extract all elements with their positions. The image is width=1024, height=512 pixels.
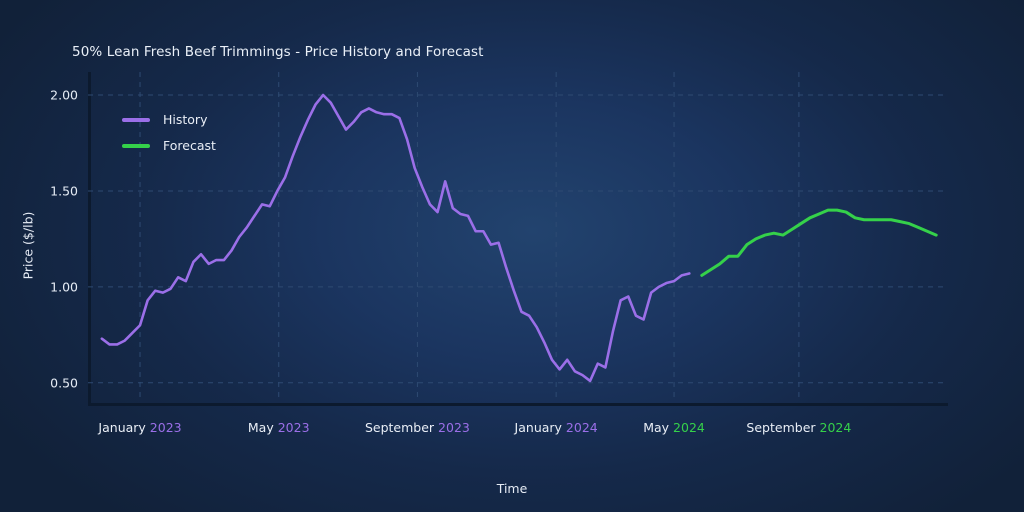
x-axis-label: Time bbox=[0, 481, 1024, 496]
chart-legend: HistoryForecast bbox=[122, 112, 216, 153]
x-tick-label: January 2023 bbox=[98, 420, 181, 435]
legend-item-history[interactable]: History bbox=[122, 112, 216, 127]
legend-swatch-icon bbox=[122, 144, 150, 148]
x-tick-year: 2024 bbox=[673, 420, 705, 435]
x-tick-month: January bbox=[98, 420, 149, 435]
x-tick-label: September 2023 bbox=[365, 420, 470, 435]
legend-label: History bbox=[163, 112, 207, 127]
x-tick-month: May bbox=[248, 420, 278, 435]
x-tick-label: May 2023 bbox=[248, 420, 310, 435]
x-tick-year: 2023 bbox=[438, 420, 470, 435]
legend-item-forecast[interactable]: Forecast bbox=[122, 138, 216, 153]
chart-root: 50% Lean Fresh Beef Trimmings - Price Hi… bbox=[0, 0, 1024, 512]
x-tick-label: May 2024 bbox=[643, 420, 705, 435]
line-chart-svg bbox=[88, 72, 948, 402]
x-axis-spine bbox=[88, 403, 948, 406]
x-tick-year: 2024 bbox=[566, 420, 598, 435]
x-tick-month: May bbox=[643, 420, 673, 435]
legend-label: Forecast bbox=[163, 138, 216, 153]
x-tick-month: September bbox=[746, 420, 819, 435]
legend-swatch-icon bbox=[122, 118, 150, 122]
x-tick-year: 2023 bbox=[278, 420, 310, 435]
forecast-line bbox=[702, 210, 936, 275]
plot-area bbox=[88, 72, 948, 402]
x-tick-label: September 2024 bbox=[746, 420, 851, 435]
x-tick-month: September bbox=[365, 420, 438, 435]
x-tick-year: 2024 bbox=[820, 420, 852, 435]
x-tick-year: 2023 bbox=[150, 420, 182, 435]
gridlines bbox=[88, 72, 948, 402]
x-tick-month: January bbox=[515, 420, 566, 435]
x-tick-label: January 2024 bbox=[515, 420, 598, 435]
